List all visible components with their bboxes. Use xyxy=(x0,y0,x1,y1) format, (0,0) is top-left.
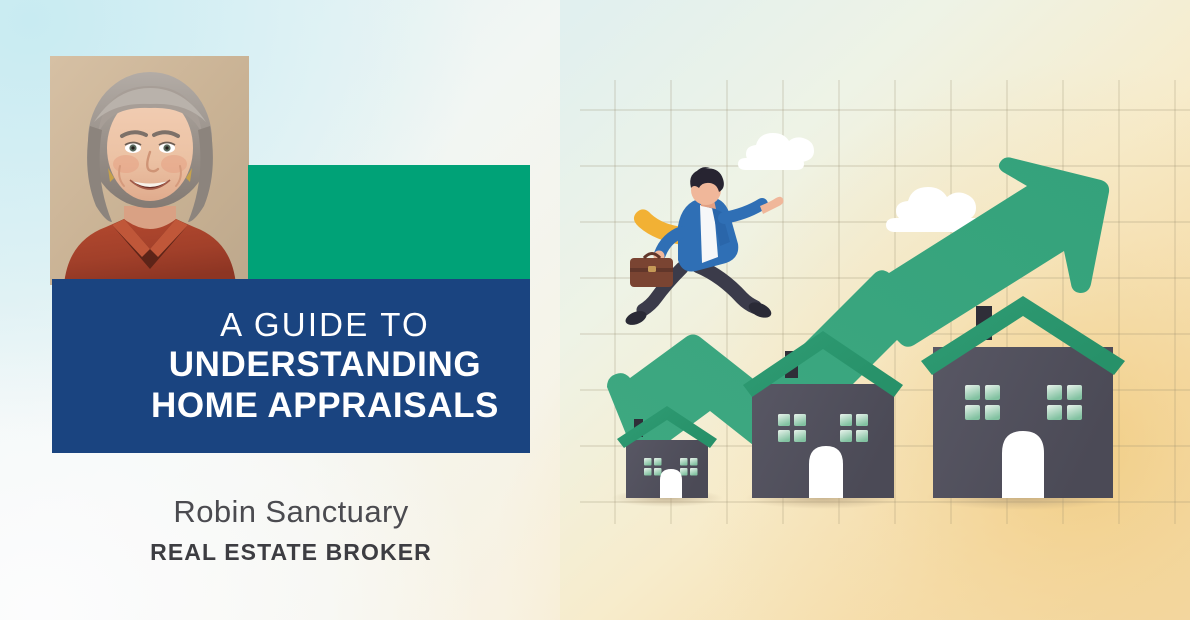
green-accent-block xyxy=(248,165,530,279)
title-line-2: UNDERSTANDING xyxy=(52,344,530,385)
headshot-illustration xyxy=(50,56,249,285)
illustration-svg xyxy=(560,0,1190,620)
real-estate-growth-illustration xyxy=(560,0,1190,620)
title-line-3: HOME APPRAISALS xyxy=(52,385,530,426)
door xyxy=(809,446,843,498)
agent-role: REAL ESTATE BROKER xyxy=(52,539,530,566)
agent-name: Robin Sanctuary xyxy=(52,494,530,530)
title-banner: A GUIDE TO UNDERSTANDING HOME APPRAISALS xyxy=(52,279,530,453)
left-content-column: A GUIDE TO UNDERSTANDING HOME APPRAISALS… xyxy=(0,0,560,620)
door xyxy=(660,469,682,498)
title-line-1: A GUIDE TO xyxy=(52,306,530,344)
door xyxy=(1002,431,1044,498)
poster-canvas: A GUIDE TO UNDERSTANDING HOME APPRAISALS… xyxy=(0,0,1190,620)
agent-headshot-photo xyxy=(50,56,249,285)
